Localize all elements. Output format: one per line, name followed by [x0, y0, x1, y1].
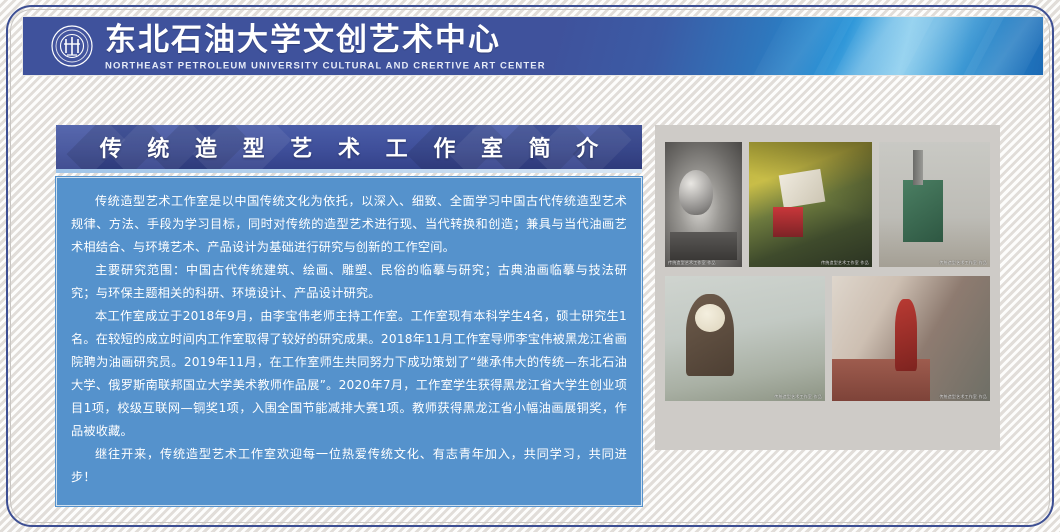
artwork-green-stove-still-life[interactable]: 传统造型艺术工作室 作品 [879, 142, 990, 267]
site-header: 东北石油大学文创艺术中心 NORTHEAST PETROLEUM UNIVERS… [22, 16, 1044, 76]
section-banner-underline [56, 169, 642, 173]
artwork-clock-still-life[interactable]: 传统造型艺术工作室 作品 [665, 276, 825, 401]
intro-column: 传 统 造 型 艺 术 工 作 室 简 介 传统造型艺术工作室是以中国传统文化为… [56, 125, 642, 506]
artwork-caption: 传统造型艺术工作室 作品 [774, 394, 822, 399]
header-title-group: 东北石油大学文创艺术中心 NORTHEAST PETROLEUM UNIVERS… [105, 20, 546, 73]
header-swoosh-decoration [800, 16, 1025, 76]
university-seal-logo-icon [51, 25, 93, 67]
intro-paragraph: 继往开来，传统造型艺术工作室欢迎每一位热爱传统文化、有志青年加入，共同学习，共同… [71, 443, 627, 489]
section-title-text: 传 统 造 型 艺 术 工 作 室 简 介 [91, 131, 608, 163]
intro-paragraph: 本工作室成立于2018年9月，由李宝伟老师主持工作室。工作室现有本科学生4名，硕… [71, 305, 627, 443]
artwork-gallery-panel: 传统造型艺术工作室 作品 传统造型艺术工作室 作品 传统造型艺术工作室 作品 传… [655, 125, 1000, 450]
intro-text-panel: 传统造型艺术工作室是以中国传统文化为依托，以深入、细致、全面学习中国古代传统造型… [56, 177, 642, 506]
intro-paragraph: 传统造型艺术工作室是以中国传统文化为依托，以深入、细致、全面学习中国古代传统造型… [71, 190, 627, 259]
gallery-row-top: 传统造型艺术工作室 作品 传统造型艺术工作室 作品 传统造型艺术工作室 作品 [665, 142, 990, 267]
artwork-cluttered-still-life[interactable]: 传统造型艺术工作室 作品 [749, 142, 872, 267]
artwork-caption: 传统造型艺术工作室 作品 [939, 260, 987, 265]
header-swoosh-decoration [720, 16, 875, 76]
artwork-caption: 传统造型艺术工作室 作品 [821, 260, 869, 265]
intro-paragraph: 主要研究范围：中国古代传统建筑、绘画、雕塑、民俗的临摹与研究；古典油画临摹与技法… [71, 259, 627, 305]
section-title-banner: 传 统 造 型 艺 术 工 作 室 简 介 [56, 125, 642, 169]
header-swoosh-decoration [780, 16, 955, 76]
gallery-row-bottom: 传统造型艺术工作室 作品 传统造型艺术工作室 作品 [665, 276, 990, 401]
header-swoosh-decoration [930, 16, 1044, 76]
artwork-caption: 传统造型艺术工作室 作品 [939, 394, 987, 399]
header-title-chinese: 东北石油大学文创艺术中心 [105, 20, 546, 60]
artwork-red-drapery-still-life[interactable]: 传统造型艺术工作室 作品 [832, 276, 990, 401]
artwork-caption: 传统造型艺术工作室 作品 [668, 260, 716, 265]
header-title-english: NORTHEAST PETROLEUM UNIVERSITY CULTURAL … [105, 60, 546, 72]
artwork-monochrome-still-life[interactable]: 传统造型艺术工作室 作品 [665, 142, 742, 267]
